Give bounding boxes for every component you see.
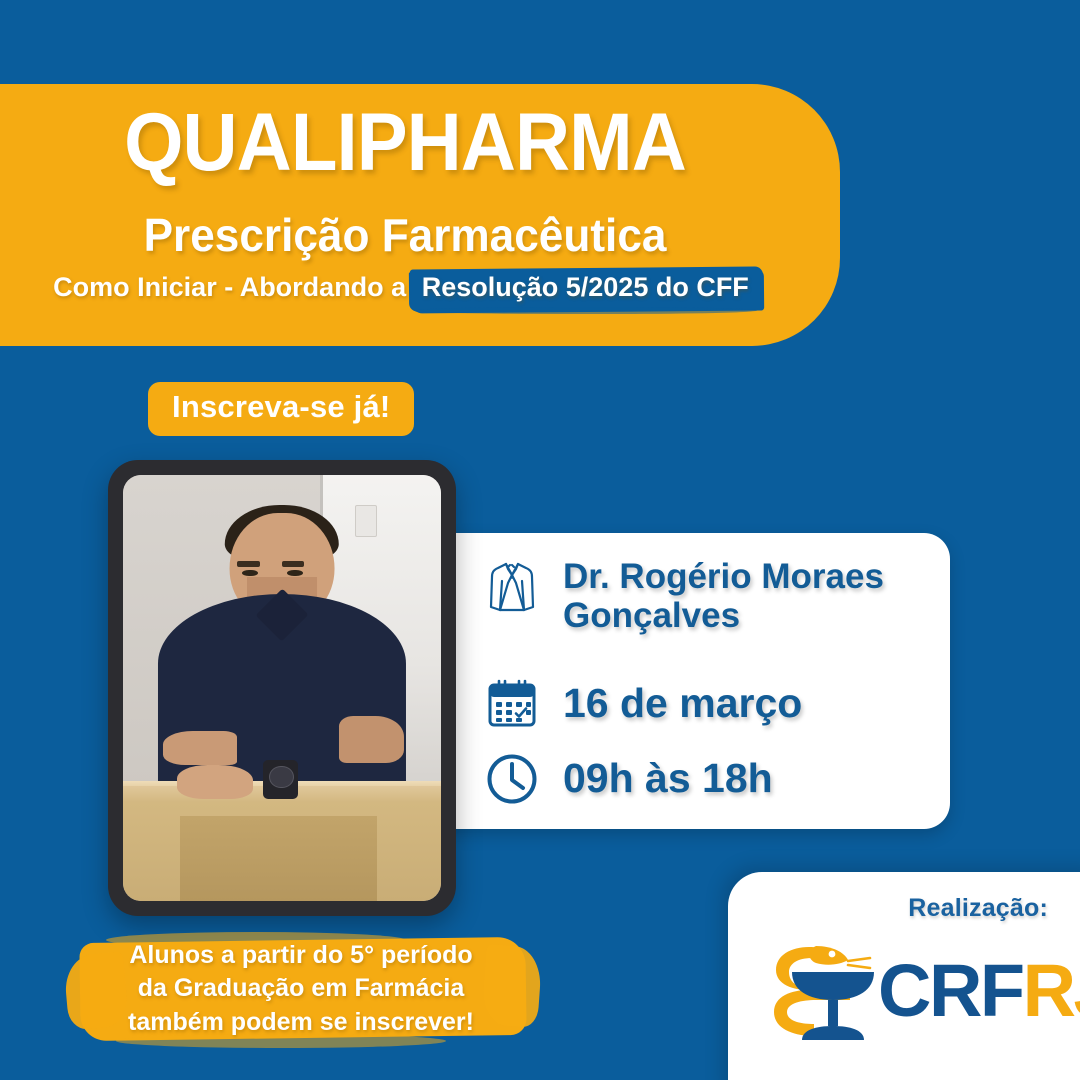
speaker-name: Dr. Rogério Moraes Gonçalves <box>563 557 933 635</box>
students-note-line-1: Alunos a partir do 5° período <box>129 939 472 973</box>
students-note: Alunos a partir do 5° período da Graduaç… <box>66 930 536 1048</box>
calendar-icon <box>483 674 541 732</box>
register-cta-badge[interactable]: Inscreva-se já! <box>148 382 414 436</box>
wall-switch-icon <box>355 505 377 537</box>
lab-coat-icon <box>483 559 541 617</box>
students-note-line-2: da Graduação em Farmácia <box>138 972 465 1006</box>
crfrj-wordmark: CRFRJ <box>878 954 1080 1028</box>
info-row-date: 16 de março <box>483 666 943 742</box>
tagline-highlight: Resolução 5/2025 do CFF <box>414 272 757 304</box>
students-note-line-3: também podem se inscrever! <box>128 1006 474 1040</box>
tagline-prefix: Como Iniciar - Abordando a <box>53 272 414 302</box>
crfrj-logo[interactable]: CRFRJ <box>762 932 1080 1050</box>
event-time: 09h às 18h <box>563 756 773 802</box>
page-tagline: Como Iniciar - Abordando a Resolução 5/2… <box>0 272 810 304</box>
speaker-photo <box>123 475 441 901</box>
clock-icon <box>483 750 541 808</box>
tablet-device <box>108 460 456 916</box>
crfrj-wordmark-crf: CRF <box>878 949 1023 1032</box>
tablet-screen <box>123 475 441 901</box>
pharmacy-bowl-snake-icon <box>762 932 882 1050</box>
page-subtitle: Prescrição Farmacêutica <box>16 212 794 258</box>
info-rows: Dr. Rogério Moraes Gonçalves <box>483 545 943 817</box>
wristwatch <box>263 760 298 798</box>
info-row-speaker: Dr. Rogério Moraes Gonçalves <box>483 545 943 666</box>
realization-label: Realização: <box>908 894 1048 923</box>
crfrj-wordmark-rj: RJ <box>1023 949 1080 1032</box>
page-title: QUALIPHARMA <box>28 104 781 183</box>
poster-root: QUALIPHARMA Prescrição Farmacêutica Como… <box>0 0 1080 1080</box>
organizer-card: Realização: CRF <box>728 872 1080 1080</box>
info-row-time: 09h às 18h <box>483 741 943 817</box>
event-date: 16 de março <box>563 681 802 727</box>
students-note-text: Alunos a partir do 5° período da Graduaç… <box>66 930 536 1048</box>
